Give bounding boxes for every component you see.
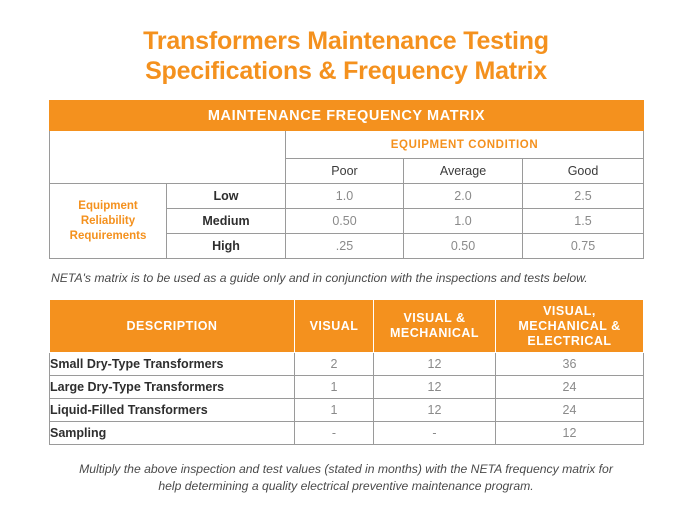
row-visual-large-dry-type: 1: [295, 376, 374, 399]
matrix-value-medium-poor: 0.50: [286, 209, 404, 234]
table-header-row: DESCRIPTION VISUAL VISUAL & MECHANICAL V…: [50, 300, 644, 353]
err-label-line-2: Reliability: [81, 215, 135, 227]
reliability-row-label-low: Low: [167, 184, 286, 209]
table-row: Large Dry-Type Transformers 1 12 24: [50, 376, 644, 399]
frequency-matrix-table: MAINTENANCE FREQUENCY MATRIX EQUIPMENT C…: [49, 100, 644, 259]
matrix-value-high-good: 0.75: [523, 234, 644, 259]
header-vme-line-2: MECHANICAL &: [518, 319, 620, 333]
infographic-page: Transformers Maintenance Testing Specifi…: [0, 0, 692, 514]
row-visual-mechanical-sampling: -: [374, 422, 496, 445]
page-title-line-2: Specifications & Frequency Matrix: [0, 56, 692, 86]
row-visual-mechanical-large-dry-type: 12: [374, 376, 496, 399]
table-row: Small Dry-Type Transformers 2 12 36: [50, 353, 644, 376]
row-visual-small-dry-type: 2: [295, 353, 374, 376]
condition-header-average: Average: [404, 159, 523, 184]
matrix-value-low-poor: 1.0: [286, 184, 404, 209]
corner-blank-cell: [50, 131, 286, 184]
table-row: Sampling - - 12: [50, 422, 644, 445]
err-label-line-1: Equipment: [78, 200, 137, 212]
equipment-reliability-requirements-label: Equipment Reliability Requirements: [50, 184, 167, 259]
header-visual-mechanical: VISUAL & MECHANICAL: [374, 300, 496, 353]
row-visual-mech-elec-small-dry-type: 36: [496, 353, 644, 376]
header-description: DESCRIPTION: [50, 300, 295, 353]
matrix-value-high-average: 0.50: [404, 234, 523, 259]
row-visual-mechanical-small-dry-type: 12: [374, 353, 496, 376]
page-title-line-1: Transformers Maintenance Testing: [0, 26, 692, 56]
reliability-row-label-medium: Medium: [167, 209, 286, 234]
matrix-value-medium-good: 1.5: [523, 209, 644, 234]
table-row: Liquid-Filled Transformers 1 12 24: [50, 399, 644, 422]
row-visual-sampling: -: [295, 422, 374, 445]
matrix-value-medium-average: 1.0: [404, 209, 523, 234]
inspection-table-wrapper: DESCRIPTION VISUAL VISUAL & MECHANICAL V…: [49, 299, 643, 445]
header-vme-line-3: ELECTRICAL: [527, 334, 611, 348]
table-row-group-header: EQUIPMENT CONDITION: [50, 131, 644, 159]
row-visual-mech-elec-liquid-filled: 24: [496, 399, 644, 422]
row-visual-liquid-filled: 1: [295, 399, 374, 422]
row-description-liquid-filled: Liquid-Filled Transformers: [50, 399, 295, 422]
header-visual-mechanical-line-2: MECHANICAL: [390, 326, 479, 340]
matrix-value-high-poor: .25: [286, 234, 404, 259]
condition-header-poor: Poor: [286, 159, 404, 184]
inspection-table: DESCRIPTION VISUAL VISUAL & MECHANICAL V…: [49, 299, 644, 445]
equipment-condition-header: EQUIPMENT CONDITION: [286, 131, 644, 159]
err-label-line-3: Requirements: [70, 230, 147, 242]
note-two-line-2: help determining a quality electrical pr…: [158, 479, 533, 493]
row-description-small-dry-type: Small Dry-Type Transformers: [50, 353, 295, 376]
reliability-row-label-high: High: [167, 234, 286, 259]
frequency-matrix-banner: MAINTENANCE FREQUENCY MATRIX: [50, 101, 644, 131]
note-neta-matrix-guide: NETA's matrix is to be used as a guide o…: [47, 259, 645, 299]
row-description-large-dry-type: Large Dry-Type Transformers: [50, 376, 295, 399]
header-visual: VISUAL: [295, 300, 374, 353]
row-visual-mechanical-liquid-filled: 12: [374, 399, 496, 422]
header-vme-line-1: VISUAL,: [543, 304, 596, 318]
header-visual-mechanical-line-1: VISUAL &: [403, 311, 465, 325]
header-visual-mechanical-electrical: VISUAL, MECHANICAL & ELECTRICAL: [496, 300, 644, 353]
note-multiply-values: Multiply the above inspection and test v…: [49, 445, 643, 495]
page-title: Transformers Maintenance Testing Specifi…: [0, 0, 692, 86]
table-row: Equipment Reliability Requirements Low 1…: [50, 184, 644, 209]
row-visual-mech-elec-sampling: 12: [496, 422, 644, 445]
condition-header-good: Good: [523, 159, 644, 184]
table-row-banner: MAINTENANCE FREQUENCY MATRIX: [50, 101, 644, 131]
row-description-sampling: Sampling: [50, 422, 295, 445]
note-two-line-1: Multiply the above inspection and test v…: [79, 462, 613, 476]
row-visual-mech-elec-large-dry-type: 24: [496, 376, 644, 399]
frequency-matrix-table-wrapper: MAINTENANCE FREQUENCY MATRIX EQUIPMENT C…: [49, 100, 643, 259]
matrix-value-low-good: 2.5: [523, 184, 644, 209]
matrix-value-low-average: 2.0: [404, 184, 523, 209]
